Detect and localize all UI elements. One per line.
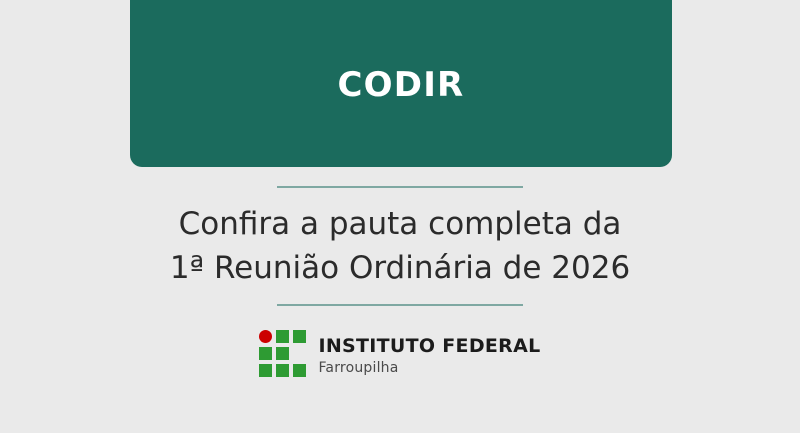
divider-top: [277, 186, 523, 188]
announcement-headline: Confira a pauta completa da 1ª Reunião O…: [170, 202, 630, 290]
announcement-line-1: Confira a pauta completa da: [170, 202, 630, 246]
instituto-federal-logo: INSTITUTO FEDERAL Farroupilha: [0, 330, 800, 381]
logo-wordmark: INSTITUTO FEDERAL Farroupilha: [318, 337, 540, 375]
logo-secondary-text: Farroupilha: [318, 361, 540, 375]
logo-primary-text: INSTITUTO FEDERAL: [318, 337, 540, 356]
announcement-line-2: 1ª Reunião Ordinária de 2026: [170, 246, 630, 290]
hero-title: CODIR: [338, 68, 465, 102]
announcement-block: Confira a pauta completa da 1ª Reunião O…: [0, 186, 800, 306]
poster-canvas: CODIR Confira a pauta completa da 1ª Reu…: [0, 0, 800, 433]
hero-card: CODIR: [130, 0, 672, 167]
divider-bottom: [277, 304, 523, 306]
instituto-federal-logo-mark-icon: [259, 330, 307, 381]
